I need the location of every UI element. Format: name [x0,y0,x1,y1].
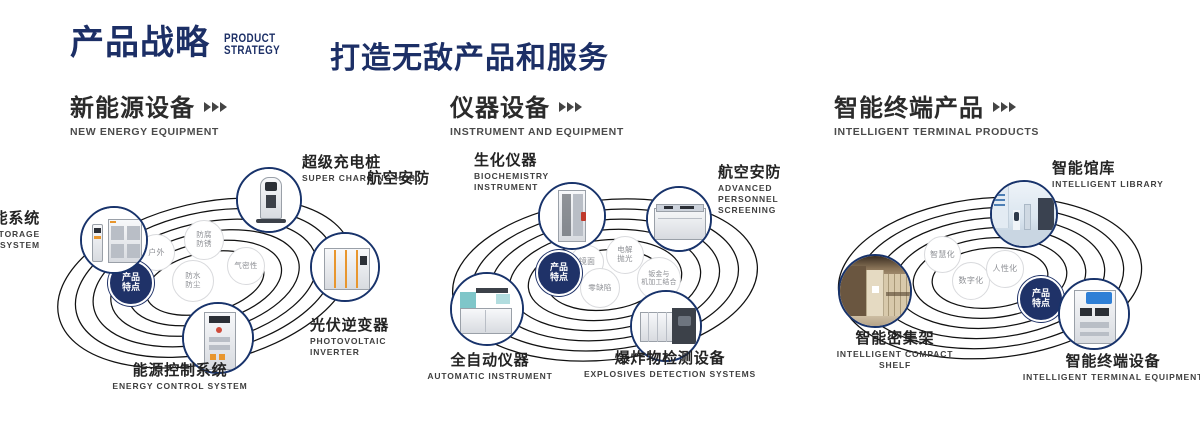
feature-bubble: 数字化 [952,262,990,300]
chevron-right-icon [993,102,1016,114]
node-super-charging-hub[interactable] [236,167,302,233]
node-label-en: INTELLIGENT LIBRARY [1052,179,1164,190]
feature-bubble: 气密性 [227,247,265,285]
chevron-right-icon [559,102,582,114]
cluster-instrument-and-equipment: 镜面 电解 抛光 零缺陷 钣金与 机加工结合 产品 特点 [400,150,820,400]
node-label-en: EXPLOSIVES DETECTION SYSTEMS [580,369,760,380]
feature-bubble: 防腐 防锈 [184,220,224,260]
section-title-cn: 新能源设备 [70,95,195,121]
node-label-cn: 航空安防 [340,170,430,187]
badge-line-2: 特点 [1032,299,1050,309]
node-label-cn: 全自动仪器 [420,352,560,369]
cluster-new-energy-equipment: 防腐 防锈 户外 防水 防尘 气密性 产品 特点 [0,150,420,400]
page-title: 产品战略 PRODUCT STRATEGY [70,26,292,60]
badge-line-2: 特点 [122,283,140,293]
node-label-en: AUTOMATIC INSTRUMENT [420,371,560,382]
badge-line-1: 产品 [550,263,568,273]
node-intelligent-terminal-equipment[interactable] [1058,278,1130,350]
node-energy-storage-system[interactable] [80,206,148,274]
feature-bubble: 人性化 [986,250,1024,288]
feature-bubble: 智慧化 [924,236,961,273]
feature-bubble: 零缺陷 [580,268,620,308]
node-label-cn: 储能系统 [0,210,40,227]
node-label-cn: 爆炸物检测设备 [580,350,760,367]
node-label-cn: 能源控制系统 [80,362,280,379]
cluster-intelligent-terminal-products: 智慧化 数字化 人性化 产品 特点 [790,150,1200,400]
label-energy-storage-system: 储能系统 ENERGY STORAGE SYSTEM [0,210,40,251]
label-automatic-instrument: 全自动仪器 AUTOMATIC INSTRUMENT [420,352,560,382]
page-title-cn: 产品战略 [70,26,210,60]
section-heading-new-energy-equipment: 新能源设备 NEW ENERGY EQUIPMENT [70,95,227,138]
badge-line-1: 产品 [1032,289,1050,299]
node-label-cn: 智能终端设备 [1018,353,1200,370]
node-label-en: BIOCHEMISTRY INSTRUMENT [474,171,549,193]
section-title-cn: 智能终端产品 [834,95,984,121]
slide-canvas: 产品战略 PRODUCT STRATEGY 打造无敌产品和服务 新能源设备 NE… [0,0,1200,422]
node-label-en: INTELLIGENT TERMINAL EQUIPMENT [1018,372,1200,383]
node-photovoltaic-inverter[interactable] [310,232,380,302]
chevron-right-icon [204,102,227,114]
label-explosives-detection-systems: 爆炸物检测设备 EXPLOSIVES DETECTION SYSTEMS [580,350,760,380]
badge-line-1: 产品 [122,273,140,283]
section-heading-instrument-and-equipment: 仪器设备 INSTRUMENT AND EQUIPMENT [450,95,624,138]
page-title-en: PRODUCT STRATEGY [224,32,280,60]
node-intelligent-library[interactable] [990,180,1058,248]
section-title-en: INTELLIGENT TERMINAL PRODUCTS [834,126,1039,138]
node-label-en: ENERGY STORAGE SYSTEM [0,229,40,251]
node-advanced-personnel-screening[interactable] [646,186,712,252]
node-intelligent-compact-shelf[interactable] [838,254,912,328]
feature-bubble: 防水 防尘 [172,260,214,302]
node-automatic-instrument[interactable] [450,272,524,346]
section-title-cn: 仪器设备 [450,95,550,121]
section-heading-intelligent-terminal-products: 智能终端产品 INTELLIGENT TERMINAL PRODUCTS [834,95,1039,138]
label-intelligent-terminal-equipment: 智能终端设备 INTELLIGENT TERMINAL EQUIPMENT [1018,353,1200,383]
label-energy-control-system: 能源控制系统 ENERGY CONTROL SYSTEM [80,362,280,392]
badge-line-2: 特点 [550,273,568,283]
label-intelligent-compact-shelf: 智能密集架 INTELLIGENT COMPACT SHELF [810,330,980,371]
product-feature-badge: 产品 特点 [536,250,582,296]
node-label-cn: 生化仪器 [474,152,549,169]
label-biochemistry-instrument: 生化仪器 BIOCHEMISTRY INSTRUMENT [474,152,549,193]
section-title-en: INSTRUMENT AND EQUIPMENT [450,126,624,138]
page-subtitle: 打造无敌产品和服务 [330,33,609,77]
label-intelligent-library: 智能馆库 INTELLIGENT LIBRARY [1052,160,1164,190]
section-title-en: NEW ENERGY EQUIPMENT [70,126,227,138]
label-aviation-security: 航空安防 [340,170,430,187]
node-label-cn: 智能馆库 [1052,160,1164,177]
node-label-en: INTELLIGENT COMPACT SHELF [810,349,980,371]
node-label-cn: 智能密集架 [810,330,980,347]
node-label-en: ENERGY CONTROL SYSTEM [80,381,280,392]
